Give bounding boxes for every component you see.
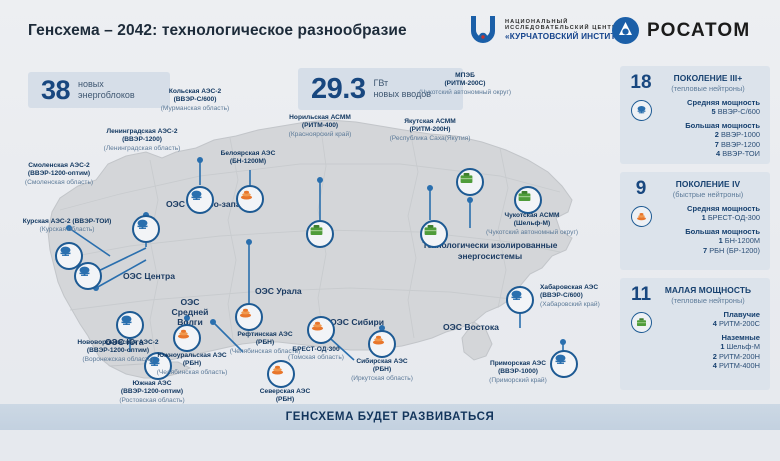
plant-type-khabarovskaya: (ВВЭР-С/600) xyxy=(540,292,600,300)
plant-name-reftinskaya: Рефтинская АЭС xyxy=(206,331,324,339)
panel-small-titles: МАЛАЯ МОЩНОСТЬ (тепловые нейтроны) xyxy=(654,285,762,305)
marker-reftinskaya[interactable] xyxy=(235,303,263,331)
plant-label-smolenskaya: Смоленская АЭС-2 (ВВЭР-1200-оптим) (Смол… xyxy=(4,162,114,187)
plant-name-yakutskaya: Якутская АСММ xyxy=(372,118,488,126)
panel-gen3-item: 7 ВВЭР-1200 xyxy=(654,140,760,149)
panel-small-subtitle: (тепловые нейтроны) xyxy=(654,296,762,305)
panel-gen3-item-model: ВВЭР-1200 xyxy=(721,140,760,149)
plant-label-yakutskaya: Якутская АСММ (РИТМ-200Н) (Республика Са… xyxy=(372,118,488,143)
plant-label-beloyarskaya: Белоярская АЭС (БН-1200М) xyxy=(198,150,298,167)
plant-type-yuzhnouralskaya: (РБН) xyxy=(128,360,256,368)
plant-label-leningradskaya: Ленинградская АЭС-2 (ВВЭР-1200) (Ленингр… xyxy=(82,128,202,153)
plant-label-sibirskaya: Сибирская АЭС (РБН) (Иркутская область) xyxy=(326,358,438,383)
plant-name-khabarovskaya: Хабаровская АЭС xyxy=(540,284,600,292)
panel-small-item: 1 Шельф-М xyxy=(654,342,760,351)
panel-gen4-item: 7 РБН (БР-1200) xyxy=(654,246,760,255)
panel-gen4-item-count: 1 xyxy=(719,236,723,245)
region-label-sibir: ОЭС Сибири xyxy=(330,318,384,328)
panel-gen4-group-large: Большая мощность 1 БН-1200М 7 РБН (БР-12… xyxy=(654,227,760,255)
plant-name-norilskaya: Норильская АСММ xyxy=(264,114,376,122)
plant-region-primorskaya: (Приморский край) xyxy=(462,377,574,385)
panel-small-item: 4 РИТМ-400Н xyxy=(654,361,760,370)
panel-gen3-subtitle: (тепловые нейтроны) xyxy=(654,84,762,93)
plant-name-mpeb: МПЭБ xyxy=(400,72,530,80)
plant-region-chukotskaya: (Чукотский автономный округ) xyxy=(466,229,598,237)
plant-label-primorskaya: Приморская АЭС (ВВЭР-1000) (Приморский к… xyxy=(462,360,574,385)
panel-small-item-model: РИТМ-400Н xyxy=(719,361,760,370)
summary-panel-small: 11 МАЛАЯ МОЩНОСТЬ (тепловые нейтроны) Пл… xyxy=(620,278,770,390)
page-title: Генсхема – 2042: технологическое разнооб… xyxy=(28,22,407,40)
panel-gen3-group-large-title: Большая мощность xyxy=(654,121,760,130)
panel-small-body: Плавучие 4 РИТМ-200С Наземные 1 Шельф-М … xyxy=(628,310,762,370)
rosatom-logo-text: РОСАТОМ xyxy=(647,20,750,42)
marker-beloyarskaya[interactable] xyxy=(236,185,264,213)
panel-small-item: 4 РИТМ-200С xyxy=(654,319,760,328)
plant-name-chukotskaya: Чукотская АСММ xyxy=(466,212,598,220)
panel-gen3-titles: ПОКОЛЕНИЕ III+ (тепловые нейтроны) xyxy=(654,73,762,93)
panel-gen4-item-count: 1 xyxy=(702,213,706,222)
panel-small-item-model: Шельф-М xyxy=(727,342,761,351)
panel-small-item-model: РИТМ-200С xyxy=(719,319,760,328)
panel-gen4-item-model: БРЕСТ-ОД-300 xyxy=(708,213,760,222)
plant-type-leningradskaya: (ВВЭР-1200) xyxy=(82,136,202,144)
smr-icon xyxy=(631,312,652,333)
panel-small-group-floating: Плавучие 4 РИТМ-200С xyxy=(654,310,760,328)
panel-small-head: 11 МАЛАЯ МОЩНОСТЬ (тепловые нейтроны) xyxy=(628,285,762,305)
plant-type-smolenskaya: (ВВЭР-1200-оптим) xyxy=(4,170,114,178)
panel-gen3-item-count: 5 xyxy=(712,107,716,116)
panel-gen3-item-count: 4 xyxy=(716,149,720,158)
plant-name-novovoronezhskaya: Нововоронежская АЭС-2 xyxy=(54,339,182,347)
plant-name-severskaya: Северская АЭС xyxy=(232,388,338,396)
rosatom-mark-icon xyxy=(612,17,639,44)
header: Генсхема – 2042: технологическое разнооб… xyxy=(0,0,780,62)
panel-gen4-item: 1 БРЕСТ-ОД-300 xyxy=(654,213,760,222)
plant-label-kolskaya: Кольская АЭС-2 (ВВЭР-С/600) (Мурманская … xyxy=(140,88,250,113)
marker-sibirskaya[interactable] xyxy=(368,330,396,358)
kurchatov-mark-icon xyxy=(468,14,498,46)
marker-chukotskaya[interactable] xyxy=(514,186,542,214)
region-label-srednyaya-volga: ОЭС Средней Волги xyxy=(163,298,217,328)
footer-banner: ГЕНСХЕМА БУДЕТ РАЗВИВАТЬСЯ xyxy=(0,404,780,430)
panel-gen4-title: ПОКОЛЕНИЕ IV xyxy=(654,179,762,189)
panel-gen3-item-model: ВВЭР-С/600 xyxy=(718,107,760,116)
panel-gen3-icon-col xyxy=(628,98,654,158)
panel-gen4-item: 1 БН-1200М xyxy=(654,236,760,245)
marker-kolskaya[interactable] xyxy=(186,186,214,214)
plant-type-kolskaya: (ВВЭР-С/600) xyxy=(140,96,250,104)
panel-small-item-count: 2 xyxy=(713,352,717,361)
plant-name-sibirskaya: Сибирская АЭС xyxy=(326,358,438,366)
plant-label-khabarovskaya: Хабаровская АЭС (ВВЭР-С/600) (Хабаровски… xyxy=(540,284,600,309)
plant-region-yakutskaya: (Республика Саха(Якутия) xyxy=(372,135,488,143)
region-label-ural: ОЭС Урала xyxy=(255,287,302,297)
marker-leningradskaya[interactable] xyxy=(132,215,160,243)
panel-small-count: 11 xyxy=(628,285,654,304)
panel-small-item-count: 4 xyxy=(713,319,717,328)
panel-small-item-count: 4 xyxy=(713,361,717,370)
plant-type-mpeb: (РИТМ-200С) xyxy=(400,80,530,88)
panel-gen4-item-count: 7 xyxy=(703,246,707,255)
plant-region-leningradskaya: (Ленинградская область) xyxy=(82,145,202,153)
panel-gen3-count: 18 xyxy=(628,73,654,92)
fast-icon xyxy=(631,206,652,227)
panel-gen3-group-large: Большая мощность 2 ВВЭР-1000 7 ВВЭР-1200… xyxy=(654,121,760,158)
panel-small-item-count: 1 xyxy=(720,342,724,351)
panel-small-icon-col xyxy=(628,310,654,370)
plant-name-primorskaya: Приморская АЭС xyxy=(462,360,574,368)
kurchatov-logo: НАЦИОНАЛЬНЫЙ ИССЛЕДОВАТЕЛЬСКИЙ ЦЕНТР «КУ… xyxy=(468,14,631,46)
panel-gen3-group-medium-title: Средняя мощность xyxy=(654,98,760,107)
panel-gen4-group-medium: Средняя мощность 1 БРЕСТ-ОД-300 xyxy=(654,204,760,222)
plant-type-yakutskaya: (РИТМ-200Н) xyxy=(372,126,488,134)
plant-name-smolenskaya: Смоленская АЭС-2 xyxy=(4,162,114,170)
panel-gen4-group-large-title: Большая мощность xyxy=(654,227,760,236)
plant-name-yuzhnaya: Южная АЭС xyxy=(88,380,216,388)
panel-gen3-item-model: ВВЭР-1000 xyxy=(721,130,760,139)
plant-type-yuzhnaya: (ВВЭР-1200-оптим) xyxy=(88,388,216,396)
panel-small-group-floating-title: Плавучие xyxy=(654,310,760,319)
plant-region-mpeb: (Чукотский автономный округ) xyxy=(400,89,530,97)
marker-mpeb[interactable] xyxy=(456,168,484,196)
panel-gen4-body: Средняя мощность 1 БРЕСТ-ОД-300 Большая … xyxy=(628,204,762,255)
panel-gen4-head: 9 ПОКОЛЕНИЕ IV (быстрые нейтроны) xyxy=(628,179,762,199)
panel-gen3-item-model: ВВЭР-ТОИ xyxy=(722,149,760,158)
panel-gen3-lists: Средняя мощность 5 ВВЭР-С/600 Большая мо… xyxy=(654,98,762,158)
panel-gen4-group-medium-title: Средняя мощность xyxy=(654,204,760,213)
plant-region-kurskaya: (Курская область) xyxy=(2,226,132,234)
panel-gen3-body: Средняя мощность 5 ВВЭР-С/600 Большая мо… xyxy=(628,98,762,158)
panel-gen4-item-model: БН-1200М xyxy=(725,236,760,245)
panel-gen4-item-model: РБН (БР-1200) xyxy=(709,246,760,255)
panel-gen4-lists: Средняя мощность 1 БРЕСТ-ОД-300 Большая … xyxy=(654,204,762,255)
plant-region-smolenskaya: (Смоленская область) xyxy=(4,179,114,187)
plant-type-beloyarskaya: (БН-1200М) xyxy=(198,158,298,166)
panel-small-title: МАЛАЯ МОЩНОСТЬ xyxy=(654,285,762,295)
plant-region-kolskaya: (Мурманская область) xyxy=(140,105,250,113)
npp-icon xyxy=(631,100,652,121)
isolated-systems-line2: энергосистемы xyxy=(458,251,522,261)
panel-gen4-icon-col xyxy=(628,204,654,255)
panel-gen3-item: 5 ВВЭР-С/600 xyxy=(654,107,760,116)
panel-gen4-count: 9 xyxy=(628,179,654,198)
plant-label-chukotskaya: Чукотская АСММ (Шельф-М) (Чукотский авто… xyxy=(466,212,598,237)
panel-small-group-ground-title: Наземные xyxy=(654,333,760,342)
panel-small-group-ground: Наземные 1 Шельф-М 2 РИТМ-200Н 4 РИТМ-40… xyxy=(654,333,760,370)
marker-kurskaya[interactable] xyxy=(74,262,102,290)
marker-novovoronezhskaya[interactable] xyxy=(116,311,144,339)
panel-small-lists: Плавучие 4 РИТМ-200С Наземные 1 Шельф-М … xyxy=(654,310,762,370)
plant-type-primorskaya: (ВВЭР-1000) xyxy=(462,368,574,376)
plant-name-kolskaya: Кольская АЭС-2 xyxy=(140,88,250,96)
plant-label-kurskaya: Курская АЭС-2 (ВВЭР-ТОИ) (Курская област… xyxy=(2,218,132,235)
panel-gen4-titles: ПОКОЛЕНИЕ IV (быстрые нейтроны) xyxy=(654,179,762,199)
panel-gen3-group-medium: Средняя мощность 5 ВВЭР-С/600 xyxy=(654,98,760,116)
plant-region-sibirskaya: (Иркутская область) xyxy=(326,375,438,383)
summary-panel-gen3: 18 ПОКОЛЕНИЕ III+ (тепловые нейтроны) Ср… xyxy=(620,66,770,164)
panel-gen3-item: 4 ВВЭР-ТОИ xyxy=(654,149,760,158)
panel-gen3-head: 18 ПОКОЛЕНИЕ III+ (тепловые нейтроны) xyxy=(628,73,762,93)
plant-label-yuzhnaya: Южная АЭС (ВВЭР-1200-оптим) (Ростовская … xyxy=(88,380,216,405)
marker-yakutskaya[interactable] xyxy=(420,220,448,248)
panel-gen3-item-count: 2 xyxy=(715,130,719,139)
plant-label-norilskaya: Норильская АСММ (РИТМ-400) (Красноярский… xyxy=(264,114,376,139)
panel-gen3-item: 2 ВВЭР-1000 xyxy=(654,130,760,139)
plant-type-norilskaya: (РИТМ-400) xyxy=(264,122,376,130)
footer-text: ГЕНСХЕМА БУДЕТ РАЗВИВАТЬСЯ xyxy=(286,411,495,423)
marker-khabarovskaya[interactable] xyxy=(506,286,534,314)
panel-gen4-subtitle: (быстрые нейтроны) xyxy=(654,190,762,199)
region-label-vostok: ОЭС Востока xyxy=(443,323,499,333)
panel-small-item-model: РИТМ-200Н xyxy=(719,352,760,361)
plant-type-sibirskaya: (РБН) xyxy=(326,366,438,374)
panel-gen3-item-count: 7 xyxy=(715,140,719,149)
russia-map: ОЭС Северо-запада ОЭС Центра ОЭС Средней… xyxy=(0,60,625,405)
marker-severskaya[interactable] xyxy=(267,360,295,388)
plant-region-norilskaya: (Красноярский край) xyxy=(264,131,376,139)
marker-norilskaya[interactable] xyxy=(306,220,334,248)
plant-type-chukotskaya: (Шельф-М) xyxy=(466,220,598,228)
panel-gen3-title: ПОКОЛЕНИЕ III+ xyxy=(654,73,762,83)
plant-label-mpeb: МПЭБ (РИТМ-200С) (Чукотский автономный о… xyxy=(400,72,530,97)
rosatom-logo: РОСАТОМ xyxy=(612,17,750,44)
infographic-root: Генсхема – 2042: технологическое разнооб… xyxy=(0,0,780,461)
region-label-centr: ОЭС Центра xyxy=(123,272,175,282)
plant-region-yuzhnouralskaya: (Челябинская область) xyxy=(128,369,256,377)
plant-name-beloyarskaya: Белоярская АЭС xyxy=(198,150,298,158)
plant-region-khabarovskaya: (Хабаровский край) xyxy=(540,301,600,309)
plant-name-leningradskaya: Ленинградская АЭС-2 xyxy=(82,128,202,136)
panel-small-item: 2 РИТМ-200Н xyxy=(654,352,760,361)
summary-panel-gen4: 9 ПОКОЛЕНИЕ IV (быстрые нейтроны) Средня… xyxy=(620,172,770,270)
